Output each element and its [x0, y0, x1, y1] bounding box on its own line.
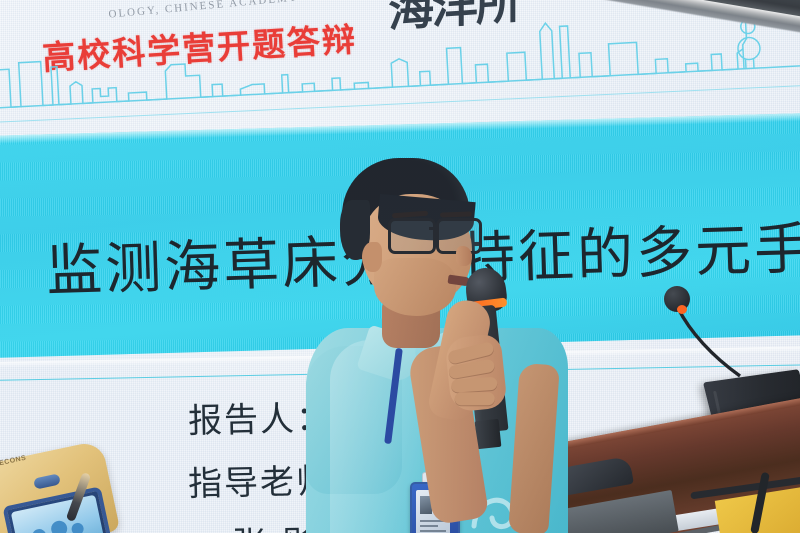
presenter-ear	[362, 242, 382, 272]
glasses-lens-left	[388, 218, 436, 254]
badge-text-line	[420, 525, 438, 527]
badge-text-line	[420, 530, 446, 532]
device-screen-blob	[71, 522, 85, 533]
presenter-nose	[456, 246, 472, 266]
glasses-bridge	[429, 227, 438, 230]
device-screen-blob	[31, 528, 48, 533]
glasses-icon	[388, 218, 482, 250]
screenshot-root: OLOGY, CHINESE ACADEMY OF SCIENCES 海洋所 高…	[0, 0, 800, 533]
presenter-hand	[444, 333, 507, 412]
handheld-mic-tail	[475, 419, 502, 449]
presenter-figure	[270, 150, 570, 533]
finger	[455, 392, 495, 405]
device-screen-blob	[50, 519, 69, 533]
finger	[451, 377, 498, 393]
gooseneck-mic-led	[677, 305, 687, 314]
presenter-jaw	[374, 258, 456, 316]
